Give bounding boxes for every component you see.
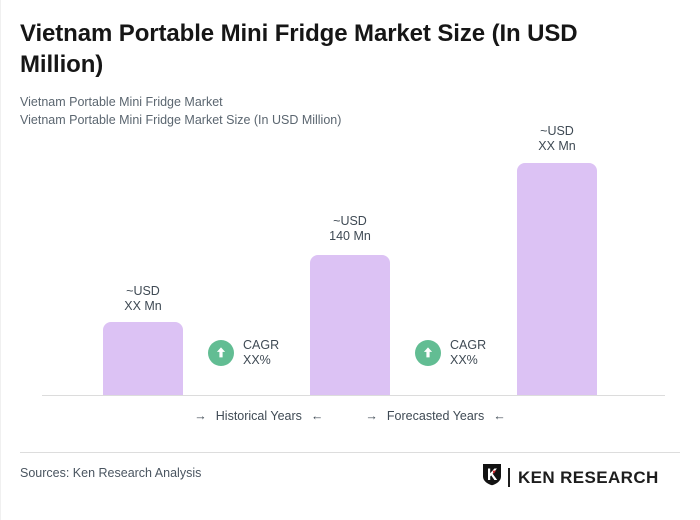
arrow-left-icon: ← bbox=[311, 410, 324, 423]
cagr-label-line-2: XX% bbox=[243, 353, 279, 368]
logo-divider bbox=[508, 468, 510, 487]
bar-label-forecast: ~USD XX Mn bbox=[497, 124, 617, 153]
arrow-up-icon bbox=[415, 340, 441, 366]
cagr-label: CAGR XX% bbox=[243, 338, 279, 367]
bar-chart-plot: ~USD XX Mn ~USD 140 Mn ~USD XX Mn CAGR X… bbox=[0, 0, 700, 520]
cagr-badge-historical[interactable]: CAGR XX% bbox=[208, 338, 279, 367]
arrow-left-icon: ← bbox=[493, 410, 506, 423]
chart-card: Vietnam Portable Mini Fridge Market Size… bbox=[0, 0, 700, 520]
bar-label-base: ~USD 140 Mn bbox=[290, 214, 410, 243]
ken-research-logo: KEN RESEARCH bbox=[482, 463, 659, 491]
legend-label: Historical Years bbox=[216, 409, 302, 423]
bar-value-line-2: XX Mn bbox=[83, 299, 203, 314]
bar-base[interactable] bbox=[310, 255, 390, 395]
legend-item-historical-years: → Historical Years ← bbox=[194, 409, 323, 423]
bar-historical[interactable] bbox=[103, 322, 183, 395]
sources-text: Sources: Ken Research Analysis bbox=[20, 466, 201, 480]
arrow-up-icon bbox=[208, 340, 234, 366]
arrow-right-icon: → bbox=[365, 410, 378, 423]
shield-k-icon bbox=[482, 463, 502, 491]
arrow-right-icon: → bbox=[194, 410, 207, 423]
bar-forecast[interactable] bbox=[517, 163, 597, 395]
brand-wordmark: KEN RESEARCH bbox=[518, 469, 659, 486]
legend-label: Forecasted Years bbox=[387, 409, 484, 423]
bar-value-line-2: 140 Mn bbox=[290, 229, 410, 244]
period-legend: → Historical Years ← → Forecasted Years … bbox=[0, 409, 700, 423]
cagr-label: CAGR XX% bbox=[450, 338, 486, 367]
x-axis-line bbox=[42, 395, 665, 396]
legend-item-forecasted-years: → Forecasted Years ← bbox=[365, 409, 505, 423]
bar-value-line-1: ~USD bbox=[333, 214, 367, 228]
cagr-label-line-1: CAGR bbox=[450, 338, 486, 352]
brand-word-ken: KEN bbox=[518, 469, 555, 486]
cagr-label-line-2: XX% bbox=[450, 353, 486, 368]
brand-word-research: RESEARCH bbox=[560, 469, 659, 486]
cagr-label-line-1: CAGR bbox=[243, 338, 279, 352]
cagr-badge-forecast[interactable]: CAGR XX% bbox=[415, 338, 486, 367]
footer-divider bbox=[20, 452, 680, 453]
bar-value-line-1: ~USD bbox=[126, 284, 160, 298]
bar-label-historical: ~USD XX Mn bbox=[83, 284, 203, 313]
bar-value-line-2: XX Mn bbox=[497, 139, 617, 154]
bar-value-line-1: ~USD bbox=[540, 124, 574, 138]
